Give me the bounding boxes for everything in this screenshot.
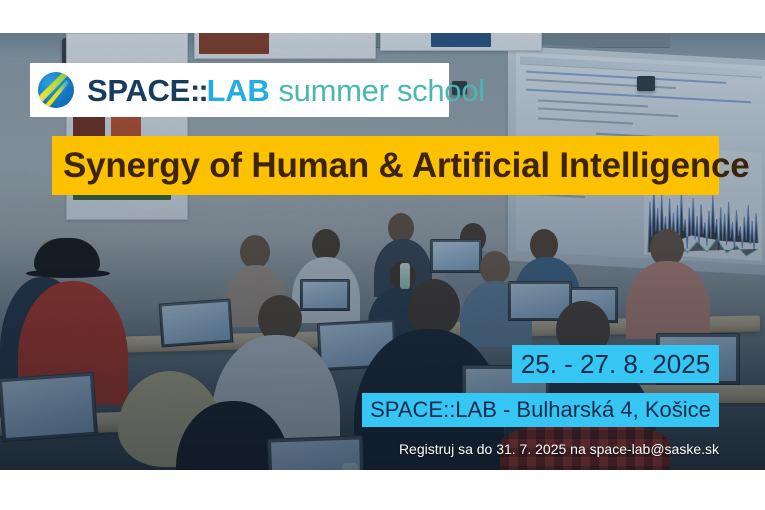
logo-brand-first: SPACE (87, 73, 190, 108)
poster-root: SPACE::LABsummer school Synergy of Human… (0, 0, 765, 510)
registration-line: Registruj sa do 31. 7. 2025 na space-lab… (386, 439, 719, 459)
date-badge: 25. - 27. 8. 2025 (512, 345, 719, 383)
logo-brand-second: LAB (207, 73, 270, 108)
date-text: 25. - 27. 8. 2025 (521, 351, 710, 377)
page-title: Synergy of Human & Artificial Intelligen… (63, 148, 750, 183)
spacelab-globe-icon (38, 72, 74, 108)
venue-badge: SPACE::LAB - Bulharská 4, Košice (362, 393, 719, 427)
logo-brand-separator: :: (190, 73, 207, 108)
logo-wordmark: SPACE::LABsummer school (87, 75, 485, 106)
venue-text: SPACE::LAB - Bulharská 4, Košice (370, 399, 711, 421)
logo-tagline: summer school (278, 73, 484, 108)
registration-text: Registruj sa do 31. 7. 2025 na space-lab… (399, 442, 719, 456)
title-banner: Synergy of Human & Artificial Intelligen… (52, 136, 719, 195)
spacelab-logo-bar: SPACE::LABsummer school (30, 63, 449, 117)
